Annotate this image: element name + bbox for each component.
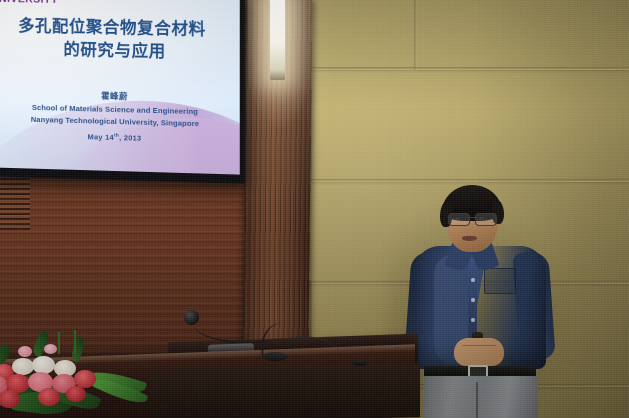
eyeglasses-icon bbox=[447, 213, 498, 225]
date-suffix: , 2013 bbox=[119, 133, 141, 143]
speaker-hands bbox=[454, 338, 504, 366]
shirt-pocket bbox=[484, 268, 516, 294]
date-prefix: May 14 bbox=[88, 132, 114, 142]
projection-screen-frame: TECHNOLOGICAL UNIVERSITY 多孔配位聚合物复合材料 的研究… bbox=[0, 0, 245, 184]
speaker bbox=[400, 186, 565, 418]
floral-arrangement bbox=[0, 330, 163, 418]
logo-line-2: UNIVERSITY bbox=[0, 0, 114, 7]
second-microphone-base bbox=[352, 360, 368, 366]
projection-screen: TECHNOLOGICAL UNIVERSITY 多孔配位聚合物复合材料 的研究… bbox=[0, 0, 240, 175]
speaker-trousers bbox=[424, 376, 538, 418]
slide-title: 多孔配位聚合物复合材料 的研究与应用 bbox=[0, 15, 240, 66]
microphone-head-icon bbox=[184, 310, 199, 325]
speaker-mouth bbox=[462, 236, 477, 241]
wall-light-fixture bbox=[270, 0, 285, 80]
lecture-hall-photo: TECHNOLOGICAL UNIVERSITY 多孔配位聚合物复合材料 的研究… bbox=[0, 0, 629, 418]
ntu-logo: TECHNOLOGICAL UNIVERSITY bbox=[0, 0, 114, 7]
podium-front-panel bbox=[150, 363, 420, 418]
trouser-seam bbox=[476, 382, 478, 418]
presentation-slide: TECHNOLOGICAL UNIVERSITY 多孔配位聚合物复合材料 的研究… bbox=[0, 0, 240, 175]
